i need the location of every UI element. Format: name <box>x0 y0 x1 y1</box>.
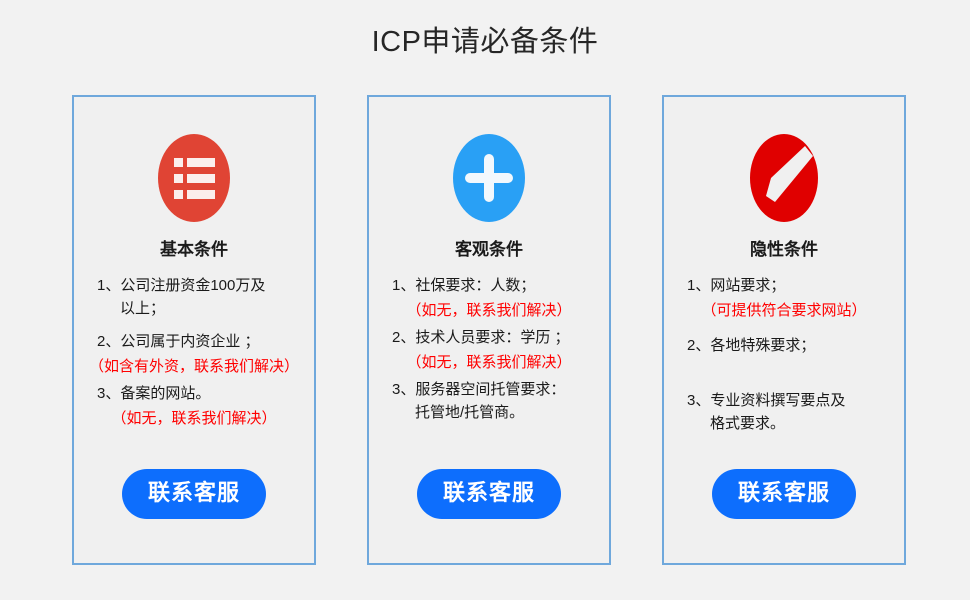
cards-container: 基本条件 1、公司注册资金100万及 以上； 2、公司属于内资企业 ； （如含有… <box>72 95 906 565</box>
list-item-note: （如无，联系我们解决） <box>82 407 306 430</box>
list-item-number: 1、 <box>687 277 710 294</box>
list-item-note: （可提供符合要求网站） <box>672 299 896 322</box>
card-body: 1、公司注册资金100万及 以上； 2、公司属于内资企业 ； （如含有外资，联系… <box>82 274 306 469</box>
card-basic-conditions: 基本条件 1、公司注册资金100万及 以上； 2、公司属于内资企业 ； （如含有… <box>72 95 316 565</box>
list-item-text: 专业资料撰写要点及 <box>710 392 845 409</box>
list-item-number: 2、 <box>97 333 120 350</box>
card-footer: 联系客服 <box>664 469 904 563</box>
list-item-number: 3、 <box>97 385 120 402</box>
card-footer: 联系客服 <box>74 469 314 563</box>
card-implicit-conditions: 隐性条件 1、网站要求； （可提供符合要求网站） 2、各地特殊要求； 3、专业资… <box>662 95 906 565</box>
list-item-note: （如无，联系我们解决） <box>377 299 601 322</box>
list-item-text: 备案的网站。 <box>120 385 210 402</box>
list-icon <box>155 132 233 224</box>
card-footer: 联系客服 <box>369 469 609 563</box>
plus-icon <box>450 132 528 224</box>
list-item: 2、公司属于内资企业 ； <box>87 330 301 353</box>
list-item-text: 技术人员要求：学历 ； <box>415 329 569 346</box>
card-body: 1、社保要求：人数； （如无，联系我们解决） 2、技术人员要求：学历 ； （如无… <box>377 274 601 469</box>
list-item-continuation: 格式要求。 <box>687 412 891 435</box>
contact-support-button[interactable]: 联系客服 <box>122 469 266 519</box>
card-heading: 基本条件 <box>160 238 228 262</box>
list-item-number: 1、 <box>392 277 415 294</box>
page-title: ICP申请必备条件 <box>0 22 970 62</box>
card-heading: 客观条件 <box>455 238 523 262</box>
list-item-continuation: 托管地/托管商。 <box>392 401 596 424</box>
list-item-note: （如含有外资，联系我们解决） <box>82 355 306 378</box>
list-item-text: 公司注册资金100万及 <box>120 277 265 294</box>
list-item-note: （如无，联系我们解决） <box>377 351 601 374</box>
card-body: 1、网站要求； （可提供符合要求网站） 2、各地特殊要求； 3、专业资料撰写要点… <box>672 274 896 469</box>
list-item-number: 1、 <box>97 277 120 294</box>
list-item: 2、各地特殊要求； <box>677 334 891 357</box>
contact-support-button[interactable]: 联系客服 <box>417 469 561 519</box>
list-item-number: 2、 <box>687 337 710 354</box>
card-objective-conditions: 客观条件 1、社保要求：人数； （如无，联系我们解决） 2、技术人员要求：学历 … <box>367 95 611 565</box>
list-item: 1、社保要求：人数； <box>382 274 596 297</box>
list-item-number: 3、 <box>687 392 710 409</box>
list-item: 1、网站要求； <box>677 274 891 297</box>
page-root: ICP申请必备条件 基本条件 1、公司注册资金100万及 以上； <box>0 0 970 600</box>
list-item-text: 社保要求：人数； <box>415 277 535 294</box>
list-item-text: 网站要求； <box>710 277 785 294</box>
list-item: 1、公司注册资金100万及 以上； <box>87 274 301 320</box>
check-mark-icon <box>745 132 823 224</box>
list-item-text: 公司属于内资企业 ； <box>120 333 259 350</box>
list-item-text: 服务器空间托管要求： <box>415 381 565 398</box>
list-item: 2、技术人员要求：学历 ； <box>382 326 596 349</box>
contact-support-button[interactable]: 联系客服 <box>712 469 856 519</box>
card-heading: 隐性条件 <box>750 238 818 262</box>
list-item-text: 各地特殊要求； <box>710 337 815 354</box>
list-item: 3、专业资料撰写要点及 格式要求。 <box>677 389 891 435</box>
list-item-number: 3、 <box>392 381 415 398</box>
list-item: 3、备案的网站。 <box>87 382 301 405</box>
list-item: 3、服务器空间托管要求： 托管地/托管商。 <box>382 378 596 424</box>
list-item-number: 2、 <box>392 329 415 346</box>
list-item-continuation: 以上； <box>97 297 301 320</box>
